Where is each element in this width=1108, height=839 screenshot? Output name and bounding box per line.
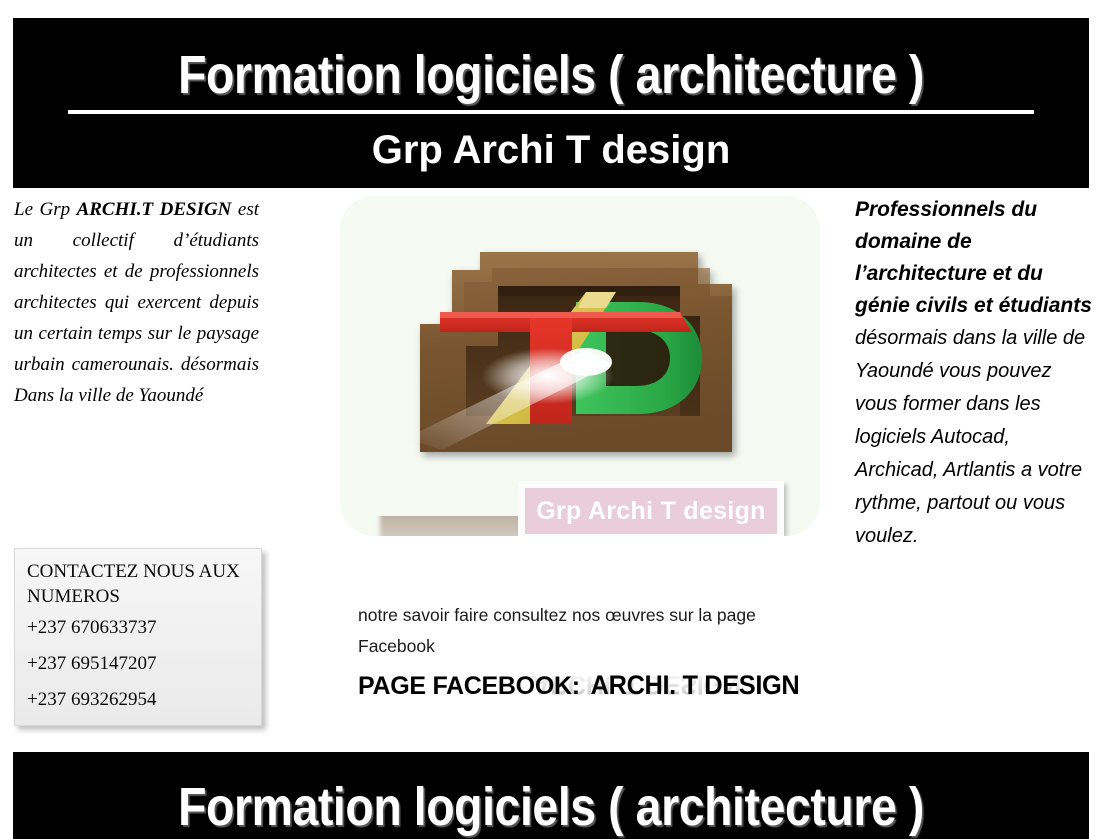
contact-phone-2[interactable]: +237 695147207 xyxy=(27,653,249,675)
facebook-page-name-reflection: ARCHI. T DESIGN xyxy=(532,669,741,700)
center-note: notre savoir faire consultez nos œuvres … xyxy=(358,600,813,662)
footer-banner: Formation logiciels ( architecture ) xyxy=(13,752,1089,839)
right-heading: Professionnels du domaine de l’architect… xyxy=(855,194,1095,322)
body-area: Le Grp ARCHI.T DESIGN est un collectif d… xyxy=(0,188,1108,752)
contact-box: CONTACTEZ NOUS AUX NUMEROS +237 67063373… xyxy=(14,548,262,726)
intro-paragraph: Le Grp ARCHI.T DESIGN est un collectif d… xyxy=(14,194,259,411)
header-divider xyxy=(68,110,1034,114)
header-title: Formation logiciels ( architecture ) xyxy=(88,48,1013,102)
right-body-text: désormais dans la ville de Yaoundé vous … xyxy=(855,322,1095,553)
poster-page: Formation logiciels ( architecture ) Grp… xyxy=(0,0,1108,839)
footer-title: Formation logiciels ( architecture ) xyxy=(88,780,1013,834)
left-column: Le Grp ARCHI.T DESIGN est un collectif d… xyxy=(14,194,259,411)
intro-text-part1: Le Grp xyxy=(14,199,77,220)
contact-phone-1[interactable]: +237 670633737 xyxy=(27,617,249,639)
logo-caption-badge: Grp Archi T design xyxy=(525,488,777,534)
archi-t-design-logo-icon xyxy=(380,224,780,482)
logo-caption-frame: Grp Archi T design xyxy=(518,481,784,536)
right-column: Professionnels du domaine de l’architect… xyxy=(855,194,1095,553)
logo-caption-text: Grp Archi T design xyxy=(536,497,766,526)
contact-title: CONTACTEZ NOUS AUX NUMEROS xyxy=(27,559,249,609)
intro-text-part2: est un collectif d’étudiants architectes… xyxy=(14,199,259,406)
logo-card: Grp Archi T design xyxy=(340,196,820,536)
center-column: Grp Archi T design notre savoir faire co… xyxy=(336,188,836,748)
header-subtitle: Grp Archi T design xyxy=(13,130,1089,170)
contact-phone-3[interactable]: +237 693262954 xyxy=(27,689,249,711)
header-banner: Formation logiciels ( architecture ) Grp… xyxy=(13,18,1089,188)
intro-brand-bold: ARCHI.T DESIGN xyxy=(77,199,232,220)
